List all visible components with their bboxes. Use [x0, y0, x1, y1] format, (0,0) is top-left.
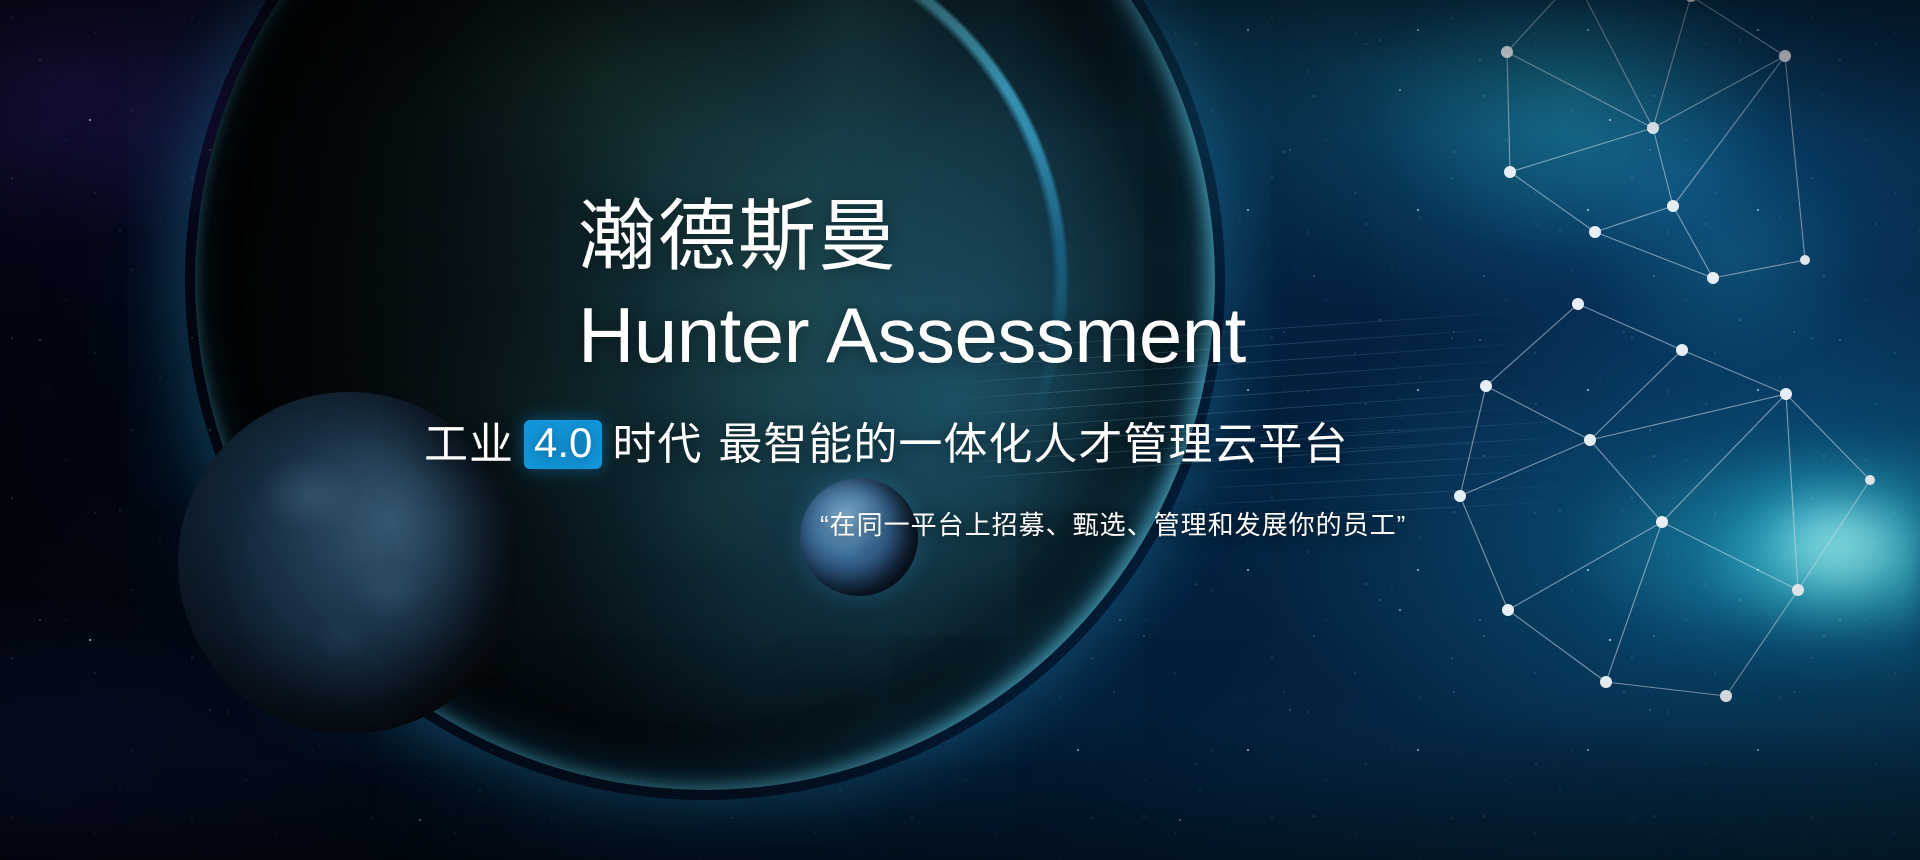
brand-title-english: Hunter Assessment — [578, 296, 1246, 374]
brand-title-chinese: 瀚德斯曼 — [578, 197, 898, 275]
tagline-after-era: 时代 — [612, 423, 702, 467]
tagline-before: 工业 — [424, 423, 514, 467]
tagline-after-platform: 最智能的一体化人才管理云平台 — [718, 423, 1348, 467]
tagline-quote: “在同一平台上招募、甄选、管理和发展你的员工” — [820, 512, 1406, 538]
industry-version-badge: 4.0 — [524, 420, 602, 469]
tagline: 工业 4.0 时代 最智能的一体化人才管理云平台 — [424, 420, 1348, 469]
hero-copy: 瀚德斯曼 Hunter Assessment 工业 4.0 时代 最智能的一体化… — [0, 0, 1920, 860]
hero-banner: 瀚德斯曼 Hunter Assessment 工业 4.0 时代 最智能的一体化… — [0, 0, 1920, 860]
